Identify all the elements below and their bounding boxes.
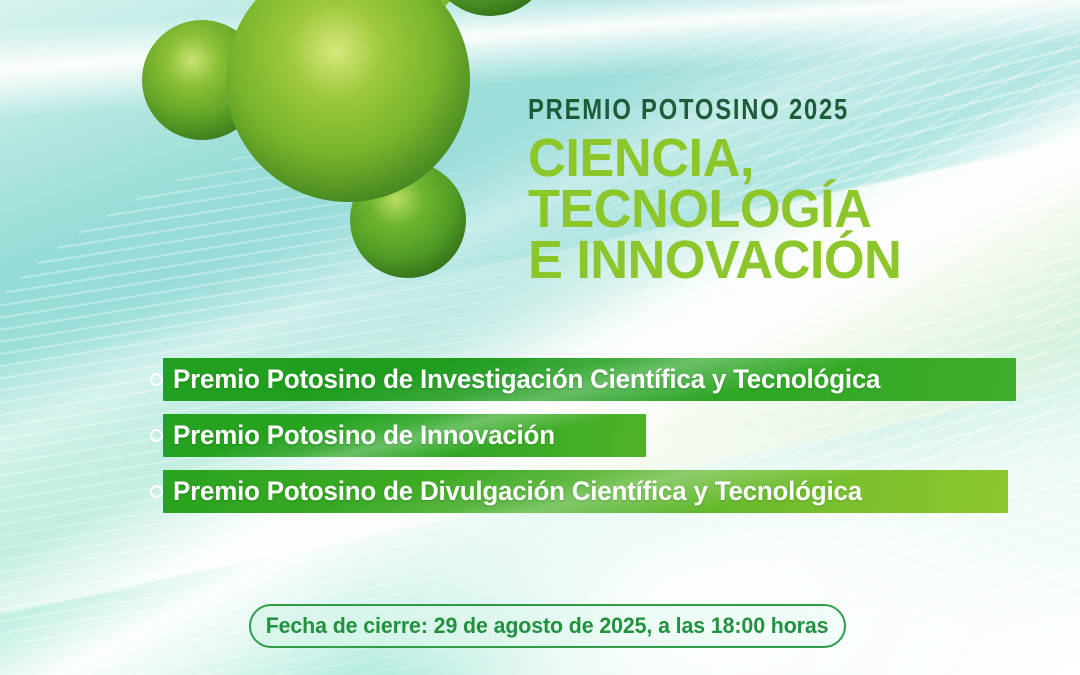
poster-canvas: PREMIO POTOSINO 2025 CIENCIA, TECNOLOGÍA…	[0, 0, 1080, 675]
title-line-1: CIENCIA,	[528, 133, 1032, 184]
list-item: Premio Potosino de Investigación Científ…	[150, 358, 1050, 401]
poster-header: PREMIO POTOSINO 2025 CIENCIA, TECNOLOGÍA…	[528, 96, 1048, 285]
award-list: Premio Potosino de Investigación Científ…	[150, 358, 1050, 526]
list-item: Premio Potosino de Innovación	[150, 414, 1050, 457]
list-item: Premio Potosino de Divulgación Científic…	[150, 470, 1050, 513]
molecule-icon	[120, 0, 560, 340]
title-line-2: TECNOLOGÍA	[528, 184, 1032, 235]
circle-bullet-icon	[150, 373, 163, 386]
deadline-text: Fecha de cierre: 29 de agosto de 2025, a…	[266, 613, 829, 639]
kicker-text: PREMIO POTOSINO 2025	[528, 96, 954, 125]
deadline-badge: Fecha de cierre: 29 de agosto de 2025, a…	[249, 604, 846, 648]
circle-bullet-icon	[150, 485, 163, 498]
page-title: CIENCIA, TECNOLOGÍA E INNOVACIÓN	[528, 133, 1032, 285]
award-label: Premio Potosino de Investigación Científ…	[173, 364, 880, 395]
award-label: Premio Potosino de Divulgación Científic…	[173, 476, 862, 507]
title-line-3: E INNOVACIÓN	[528, 235, 1032, 286]
award-label: Premio Potosino de Innovación	[173, 420, 555, 451]
circle-bullet-icon	[150, 429, 163, 442]
